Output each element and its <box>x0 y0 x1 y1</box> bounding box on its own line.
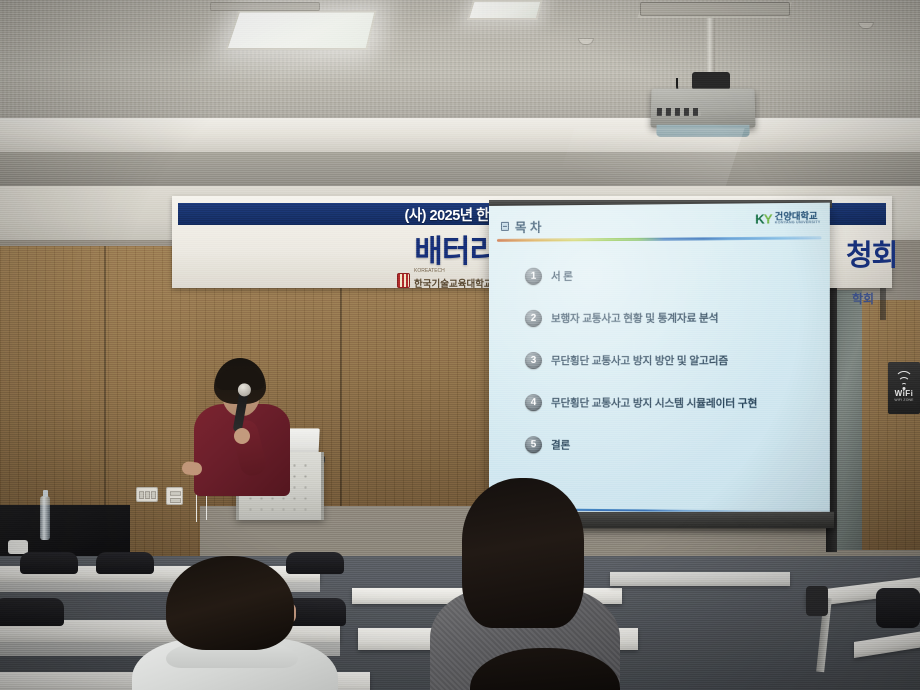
list-item: 3 무단횡단 교통사고 방지 방안 및 알고리즘 <box>525 352 811 369</box>
toc-item-label: 무단횡단 교통사고 방지 방안 및 알고리즘 <box>551 353 728 368</box>
chair <box>0 598 64 626</box>
wifi-icon <box>894 375 914 389</box>
desk-leg-bracket <box>806 586 828 616</box>
toc-item-label: 무단횡단 교통사고 방지 시스템 시뮬레이터 구현 <box>551 395 757 411</box>
university-crest-icon <box>397 273 410 288</box>
toc-number-badge: 1 <box>525 268 542 285</box>
banner-organization: KOREATECH 한국기술교육대학교 <box>397 268 493 288</box>
list-item: 1 서 론 <box>525 266 811 285</box>
presenter-hand-left <box>181 461 202 476</box>
banner-title-right-fragment: 청회 <box>846 232 897 274</box>
banner-org-label: 한국기술교육대학교 <box>414 279 493 288</box>
projector-ports <box>657 108 701 116</box>
ceiling <box>0 0 920 190</box>
toc-item-label: 서 론 <box>551 268 573 283</box>
wifi-sign: WiFi WIFI ZONE <box>888 362 920 414</box>
presenter-hand <box>234 428 250 444</box>
audience-hair <box>462 478 584 628</box>
toc-number-badge: 3 <box>525 352 542 369</box>
toc-item-label: 결론 <box>551 437 570 452</box>
glass-partition <box>836 290 862 550</box>
ceiling-soffit <box>0 118 920 152</box>
ceiling-vent <box>210 2 320 11</box>
ky-logo-mark: KY <box>755 212 772 225</box>
list-icon <box>501 221 509 230</box>
university-logo: KY 건양대학교 KONYANG UNIVERSITY <box>755 212 820 226</box>
toc-number-badge: 2 <box>525 310 542 327</box>
audience-member-foreground <box>470 648 620 690</box>
audience-hair <box>470 648 620 690</box>
banner-subtitle-right-fragment: 학회 <box>852 290 874 307</box>
ceiling-vent <box>640 2 790 16</box>
wifi-sign-label: WiFi <box>895 389 914 398</box>
toc-item-label: 보행자 교통사고 현황 및 통계자료 분석 <box>551 310 718 326</box>
university-name: 건양대학교 KONYANG UNIVERSITY <box>775 212 821 226</box>
ceiling-projector <box>650 89 755 128</box>
wood-wall-panel-right <box>860 300 920 550</box>
list-item: 4 무단횡단 교통사고 방지 시스템 시뮬레이터 구현 <box>525 394 811 412</box>
list-item: 5 결론 <box>525 436 811 455</box>
chair <box>20 552 78 574</box>
table-of-contents: 1 서 론 2 보행자 교통사고 현황 및 통계자료 분석 3 무단횡단 교통사… <box>525 266 811 480</box>
desk-row <box>610 572 790 586</box>
projector-mount-pole <box>706 18 715 76</box>
audience-hair <box>166 556 294 650</box>
audience-member-left <box>130 556 340 690</box>
light-switch-plate <box>136 487 158 502</box>
toc-number-badge: 5 <box>525 436 542 453</box>
toc-number-badge: 4 <box>525 394 542 411</box>
lecture-hall-photo: WiFi WIFI ZONE (사) 2025년 한국산학기술학회 추계학술대회… <box>0 0 920 690</box>
wall-outlet-plate <box>166 487 183 505</box>
university-name-sublabel: KONYANG UNIVERSITY <box>775 222 821 226</box>
water-bottle <box>40 496 50 540</box>
wifi-sign-sublabel: WIFI ZONE <box>894 398 913 402</box>
list-item: 2 보행자 교통사고 현황 및 통계자료 분석 <box>525 309 811 327</box>
ceiling-light-panel-secondary <box>467 0 543 20</box>
slide-title: 목 차 <box>515 216 542 235</box>
ceiling-light-panel <box>225 10 376 50</box>
chair <box>876 588 920 628</box>
banner-org-sublabel: KOREATECH <box>414 268 493 274</box>
